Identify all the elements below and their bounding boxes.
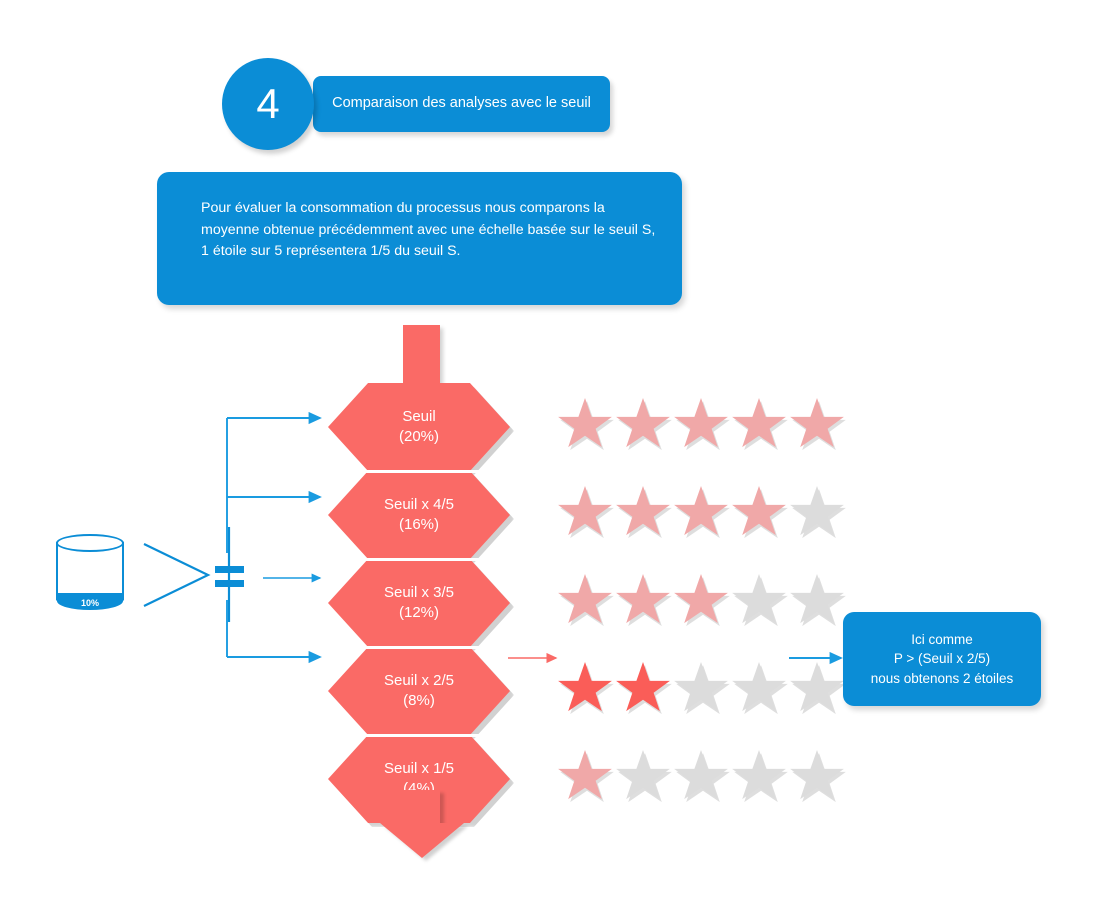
hexagon-percent: (8%) xyxy=(403,691,435,711)
flow-arrow-bottom xyxy=(380,790,464,858)
connector-layer xyxy=(0,0,1103,917)
step-title-text: Comparaison des analyses avec le seuil xyxy=(332,95,591,113)
callout-box: Ici comme P > (Seuil x 2/5) nous obtenon… xyxy=(843,612,1041,706)
equals-sign-bar-top xyxy=(215,566,244,573)
star-rating-row xyxy=(557,574,847,630)
hexagon-label: Seuil xyxy=(402,407,435,427)
database-cylinder: 10% xyxy=(56,534,126,610)
callout-line-1: Ici comme xyxy=(911,630,973,649)
greater-than-bracket xyxy=(144,544,208,606)
equals-sign-bar-bottom xyxy=(215,580,244,587)
hexagon-percent: (12%) xyxy=(399,603,439,623)
database-value-label: 10% xyxy=(81,598,99,608)
step-title-box: Comparaison des analyses avec le seuil xyxy=(313,76,610,132)
hexagon-label: Seuil x 1/5 xyxy=(384,759,454,779)
star-rating-row xyxy=(557,750,847,806)
hexagon-separator xyxy=(328,646,510,649)
flow-arrow-bottom-shaft xyxy=(403,790,440,826)
database-fill-level: 10% xyxy=(57,593,123,610)
step-number-text: 4 xyxy=(256,80,279,128)
hexagon-separator xyxy=(328,734,510,737)
hexagon-separator xyxy=(328,470,510,473)
hexagon-label: Seuil x 4/5 xyxy=(384,495,454,515)
diagram-canvas: 4 Comparaison des analyses avec le seuil… xyxy=(0,0,1103,917)
description-text: Pour évaluer la consommation du processu… xyxy=(201,200,655,259)
callout-line-3: nous obtenons 2 étoiles xyxy=(871,669,1014,688)
hexagon-percent: (20%) xyxy=(399,427,439,447)
flow-arrow-top xyxy=(403,325,440,387)
description-box: Pour évaluer la consommation du processu… xyxy=(157,172,682,305)
step-number-badge: 4 xyxy=(222,58,314,150)
hexagon-label: Seuil x 2/5 xyxy=(384,671,454,691)
star-rating-row xyxy=(557,662,847,718)
callout-line-2: P > (Seuil x 2/5) xyxy=(894,649,990,668)
flow-arrow-bottom-head xyxy=(380,823,464,858)
hexagon-label: Seuil x 3/5 xyxy=(384,583,454,603)
hexagon-separator xyxy=(328,558,510,561)
hexagon-percent: (16%) xyxy=(399,515,439,535)
star-rating-row xyxy=(557,398,847,454)
database-top-ellipse xyxy=(56,534,124,552)
star-rating-row xyxy=(557,486,847,542)
